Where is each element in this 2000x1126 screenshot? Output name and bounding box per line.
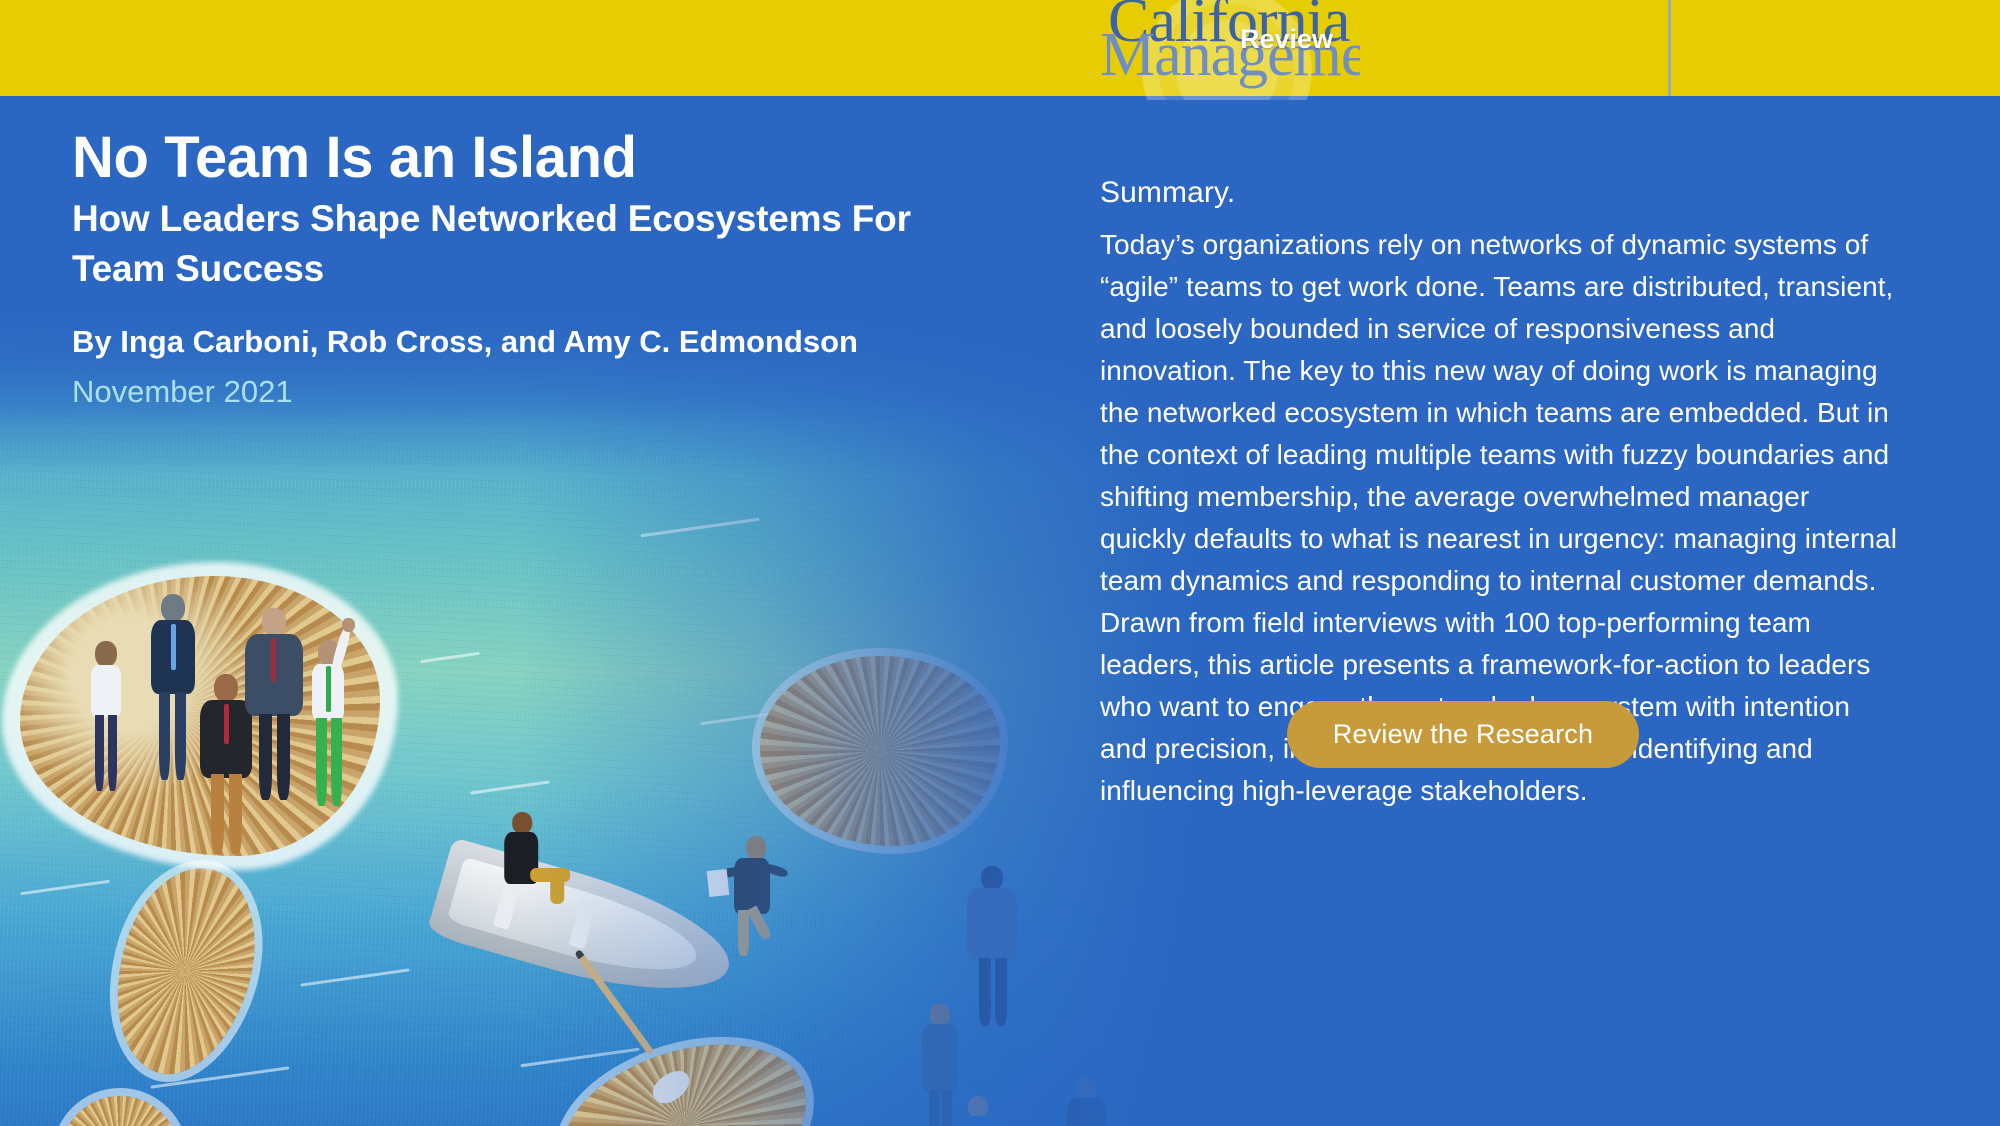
island-figure-man-green-pants-raised-arm: [308, 624, 356, 809]
vertical-divider-icon: [1668, 0, 1671, 96]
hero-section: No Team Is an Island How Leaders Shape N…: [0, 96, 2000, 1126]
island-figure-woman-white-shirt: [85, 641, 127, 791]
summary-column: Summary. Today’s organizations rely on n…: [1100, 96, 1930, 1126]
site-masthead: California Management Review: [0, 0, 2000, 96]
california-management-review-logo[interactable]: California Management Review: [1100, 0, 1360, 100]
island-figure-man-navy-suit: [148, 594, 198, 779]
page-subtitle: How Leaders Shape Networked Ecosystems F…: [72, 194, 952, 294]
review-the-research-button[interactable]: Review the Research: [1287, 701, 1639, 768]
author-byline: By Inga Carboni, Rob Cross, and Amy C. E…: [72, 324, 858, 360]
island-figure-man-grey-suit: [245, 608, 305, 798]
page-title: No Team Is an Island: [72, 126, 637, 190]
cta-container: Review the Research: [1048, 701, 1878, 768]
publication-date: November 2021: [72, 374, 293, 410]
brand-line-review: Review: [1240, 26, 1333, 53]
article-hero-page: California Management Review: [0, 0, 2000, 1126]
summary-label: Summary.: [1100, 176, 1235, 210]
